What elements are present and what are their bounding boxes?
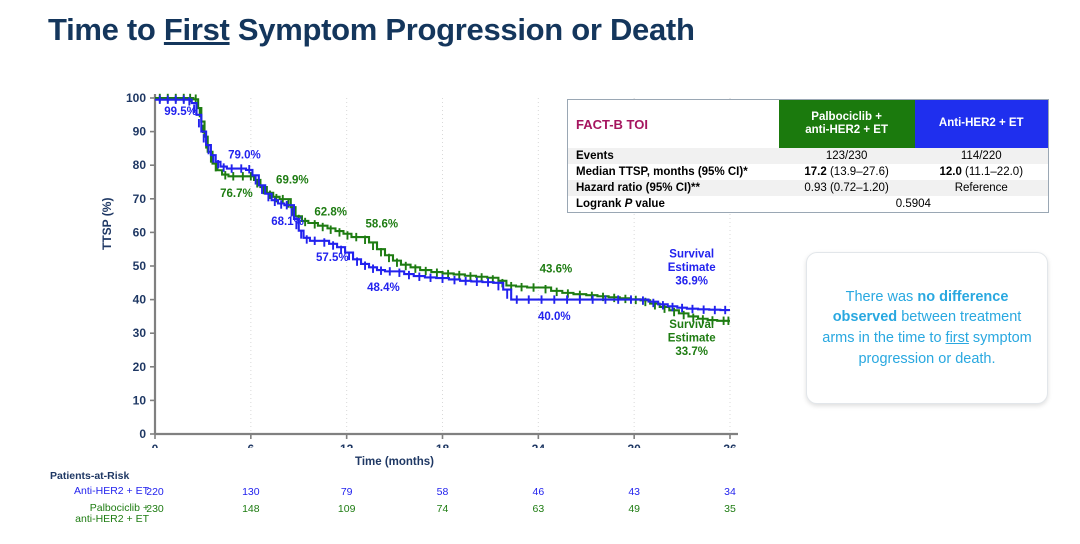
patients-at-risk-row-label: Palbociclib +anti-HER2 + ET	[0, 503, 149, 526]
patients-at-risk-table: Patients-at-Risk Anti-HER2 + ET220130795…	[50, 470, 770, 540]
patients-at-risk-value: 35	[710, 503, 750, 515]
stats-row-logrank-label: Logrank P value	[568, 196, 779, 213]
stats-row-events-green: 123/230	[779, 148, 915, 164]
stats-row-hazard-green: 0.93 (0.72–1.20)	[779, 180, 915, 196]
annotation-99.5: 99.5%	[164, 106, 197, 118]
annotation-48.4: 48.4%	[367, 282, 400, 294]
y-tick-label: 60	[133, 225, 147, 239]
annotation-43.6: 43.6%	[540, 264, 573, 276]
stats-row-events: Events 123/230 114/220	[568, 148, 1049, 164]
stats-table: FACT-B TOI Palbociclib + anti-HER2 + ET …	[567, 99, 1049, 213]
survival-estimate-green-line1: Survival	[669, 319, 714, 331]
risk-label-line2: anti-HER2 + ET	[0, 514, 149, 525]
patients-at-risk-row: Anti-HER2 + ET2201307958464334	[50, 486, 770, 502]
y-tick-label: 90	[133, 125, 147, 139]
patients-at-risk-value: 109	[327, 503, 367, 515]
annotation-68.1: 68.1%	[271, 216, 304, 228]
stats-row-logrank-value: 0.5904	[779, 196, 1049, 213]
survival-estimate-green-line3: 33.7%	[675, 346, 708, 358]
annotation-79.0: 79.0%	[228, 149, 261, 161]
stats-row-events-label: Events	[568, 148, 779, 164]
risk-label-line1: Anti-HER2 + ET	[0, 486, 149, 497]
patients-at-risk-row: Palbociclib +anti-HER2 + ET2301481097463…	[50, 503, 770, 519]
y-tick-label: 30	[133, 326, 147, 340]
logrank-pre: Logrank	[576, 198, 625, 210]
slide-root: Time to First Symptom Progression or Dea…	[0, 0, 1080, 544]
stats-row-logrank: Logrank P value 0.5904	[568, 196, 1049, 213]
stats-header-green: Palbociclib + anti-HER2 + ET	[779, 100, 915, 149]
survival-estimate-blue: SurvivalEstimate36.9%	[668, 249, 716, 288]
page-title: Time to First Symptom Progression or Dea…	[48, 12, 948, 48]
annotation-69.9: 69.9%	[276, 174, 309, 186]
title-part-before: Time to	[48, 12, 164, 47]
stats-row-median-blue: 12.0 (11.1–22.0)	[915, 164, 1049, 180]
callout-t1: There was	[846, 289, 918, 305]
stats-header-green-line1: Palbociclib +	[811, 111, 882, 123]
stats-header-label: FACT-B TOI	[568, 100, 779, 149]
annotation-40.0: 40.0%	[538, 311, 571, 323]
y-tick-label: 40	[133, 293, 147, 307]
patients-at-risk-value: 46	[518, 486, 558, 498]
y-tick-label: 10	[133, 393, 147, 407]
title-underlined-word: First	[164, 12, 230, 47]
x-tick-label: 6	[247, 442, 254, 448]
x-tick-label: 30	[627, 442, 641, 448]
y-tick-label: 80	[133, 158, 147, 172]
callout-underline: first	[946, 330, 969, 346]
callout-box: There was no difference observed between…	[806, 252, 1048, 404]
x-tick-label: 24	[532, 442, 546, 448]
annotation-58.6: 58.6%	[366, 219, 399, 231]
survival-estimate-green-line2: Estimate	[668, 333, 716, 345]
median-blue-value: 12.0	[939, 166, 961, 178]
x-axis-label: Time (months)	[355, 456, 434, 468]
patients-at-risk-title: Patients-at-Risk	[50, 470, 129, 482]
stats-row-hazard: Hazard ratio (95% CI)** 0.93 (0.72–1.20)…	[568, 180, 1049, 196]
median-green-ci: (13.9–27.6)	[827, 166, 889, 178]
y-tick-label: 20	[133, 360, 147, 374]
x-tick-label: 0	[152, 442, 159, 448]
stats-header-blue: Anti-HER2 + ET	[915, 100, 1049, 149]
patients-at-risk-value: 148	[231, 503, 271, 515]
stats-header-green-line2: anti-HER2 + ET	[805, 124, 888, 136]
y-tick-label: 50	[133, 259, 147, 273]
patients-at-risk-value: 79	[327, 486, 367, 498]
patients-at-risk-value: 130	[231, 486, 271, 498]
patients-at-risk-value: 220	[135, 486, 175, 498]
x-tick-label: 18	[436, 442, 450, 448]
median-green-value: 17.2	[804, 166, 826, 178]
patients-at-risk-value: 43	[614, 486, 654, 498]
annotation-57.5: 57.5%	[316, 252, 349, 264]
annotation-62.8: 62.8%	[314, 207, 347, 219]
patients-at-risk-value: 34	[710, 486, 750, 498]
x-tick-label: 12	[340, 442, 354, 448]
patients-at-risk-value: 49	[614, 503, 654, 515]
x-tick-label: 36	[723, 442, 737, 448]
survival-estimate-green: SurvivalEstimate33.7%	[668, 319, 716, 358]
callout-text: There was no difference observed between…	[807, 287, 1047, 369]
y-tick-label: 0	[139, 427, 146, 441]
stats-row-median: Median TTSP, months (95% CI)* 17.2 (13.9…	[568, 164, 1049, 180]
logrank-post: value	[632, 198, 665, 210]
stats-row-hazard-blue: Reference	[915, 180, 1049, 196]
title-part-after: Symptom Progression or Death	[230, 12, 695, 47]
stats-row-median-green: 17.2 (13.9–27.6)	[779, 164, 915, 180]
y-tick-label: 100	[126, 91, 146, 105]
survival-estimate-blue-line1: Survival	[669, 249, 714, 261]
patients-at-risk-value: 63	[518, 503, 558, 515]
y-tick-label: 70	[133, 192, 147, 206]
survival-estimate-blue-line3: 36.9%	[675, 276, 708, 288]
stats-row-events-blue: 114/220	[915, 148, 1049, 164]
median-blue-ci: (11.1–22.0)	[962, 166, 1023, 178]
patients-at-risk-value: 230	[135, 503, 175, 515]
patients-at-risk-row-label: Anti-HER2 + ET	[0, 486, 149, 497]
survival-estimate-blue-line2: Estimate	[668, 262, 716, 274]
y-axis-label: TTSP (%)	[100, 198, 114, 250]
patients-at-risk-value: 58	[423, 486, 463, 498]
patients-at-risk-value: 74	[423, 503, 463, 515]
stats-row-hazard-label: Hazard ratio (95% CI)**	[568, 180, 779, 196]
stats-table-header-row: FACT-B TOI Palbociclib + anti-HER2 + ET …	[568, 100, 1049, 149]
stats-row-median-label: Median TTSP, months (95% CI)*	[568, 164, 779, 180]
annotation-76.7: 76.7%	[220, 188, 253, 200]
